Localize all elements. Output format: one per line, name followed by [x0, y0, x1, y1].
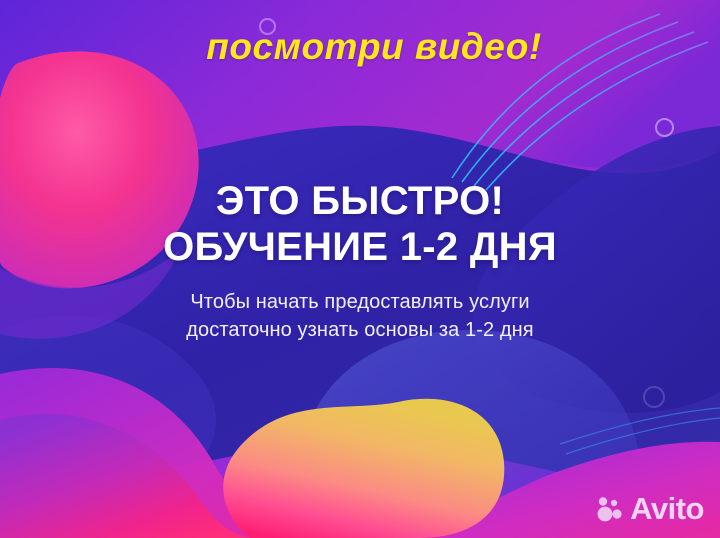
avito-dots-icon: [596, 495, 624, 523]
page-title: ЭТО БЫСТРО! ОБУЧЕНИЕ 1-2 ДНЯ: [0, 178, 720, 271]
circle-outline-icon-bottom: [643, 386, 665, 408]
promo-banner: посмотри видео! ЭТО БЫСТРО! ОБУЧЕНИЕ 1-2…: [0, 0, 720, 538]
subtitle-line-1: Чтобы начать предоставлять услуги: [0, 288, 720, 316]
subtitle-line-2: достаточно узнать основы за 1-2 дня: [0, 316, 720, 344]
headline-line-2: ОБУЧЕНИЕ 1-2 ДНЯ: [0, 224, 720, 270]
circle-outline-icon-right: [655, 118, 674, 137]
banner-content: посмотри видео! ЭТО БЫСТРО! ОБУЧЕНИЕ 1-2…: [0, 0, 720, 538]
headline-line-1: ЭТО БЫСТРО!: [0, 178, 720, 224]
avito-brand-text: Avito: [630, 493, 704, 524]
avito-watermark: Avito: [596, 493, 704, 524]
promo-kicker-text: посмотри видео!: [0, 28, 720, 67]
subtitle-text: Чтобы начать предоставлять услуги достат…: [0, 288, 720, 345]
